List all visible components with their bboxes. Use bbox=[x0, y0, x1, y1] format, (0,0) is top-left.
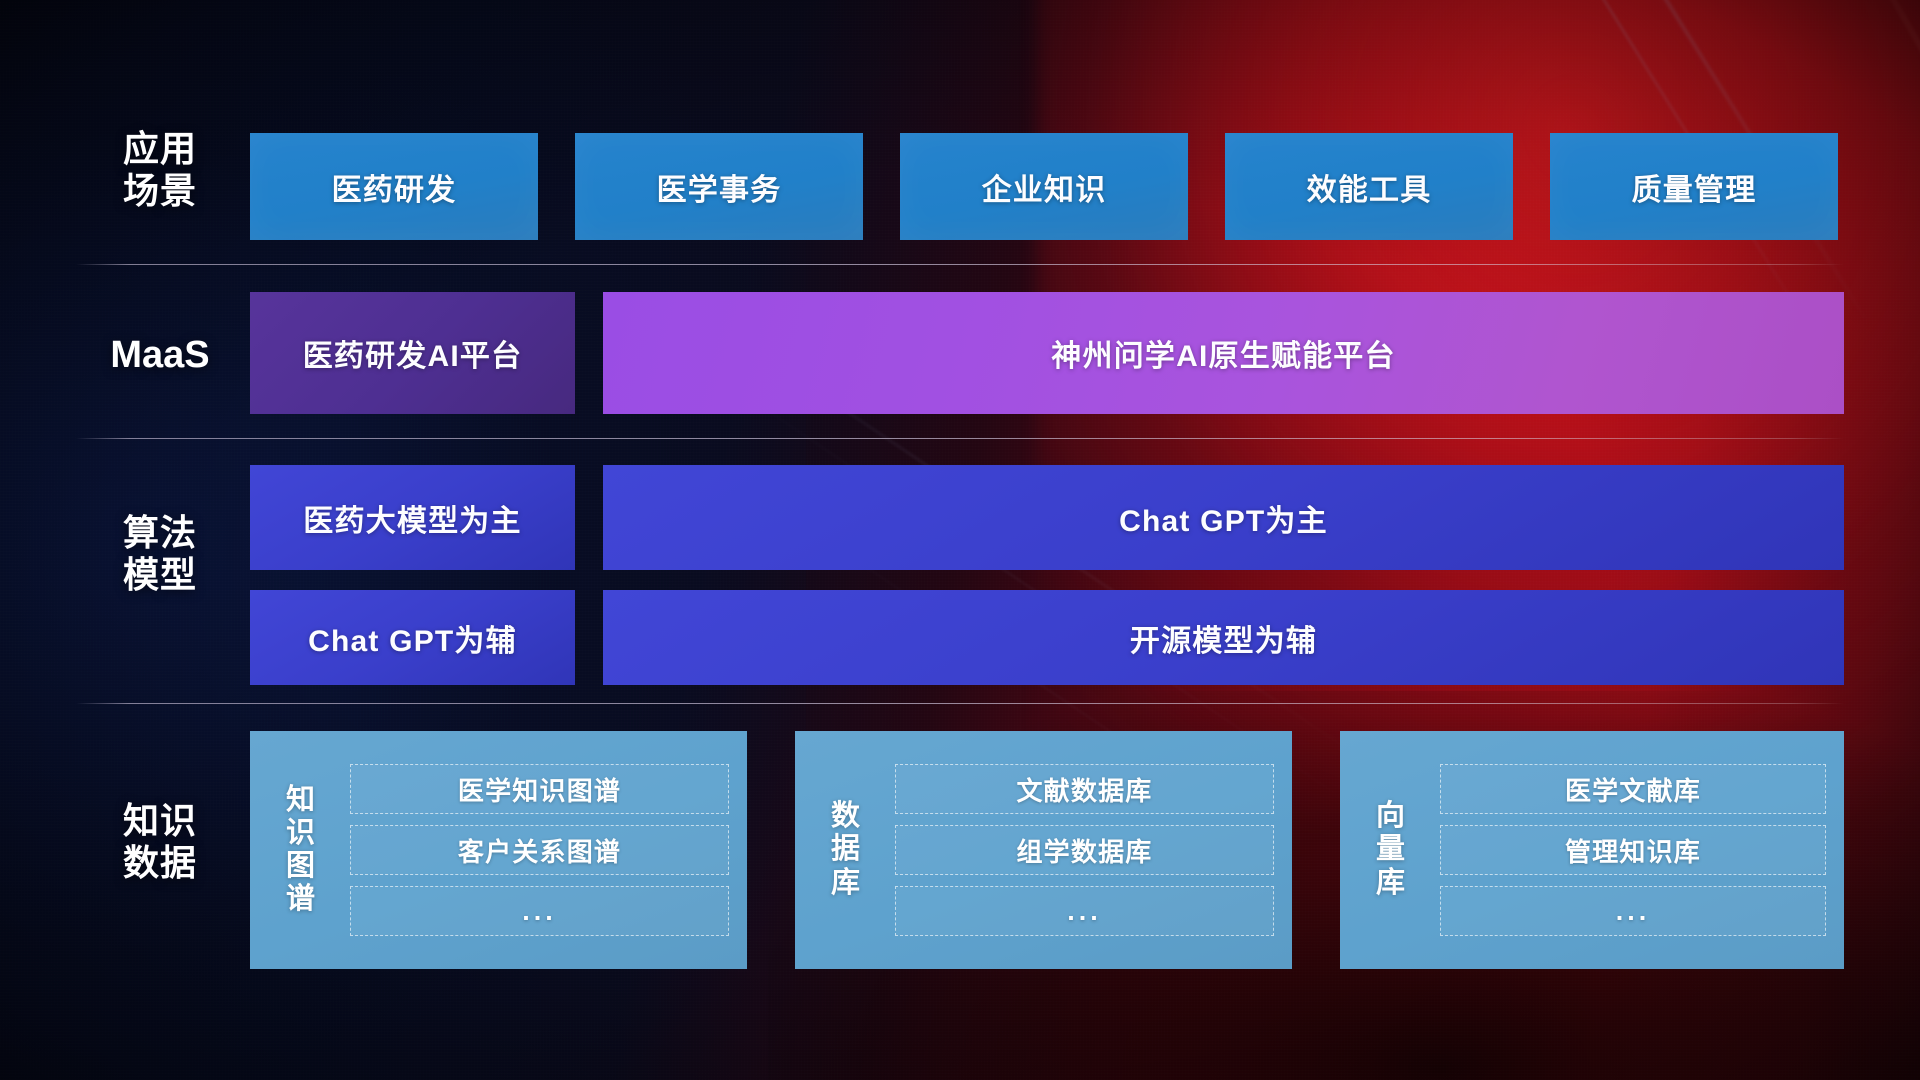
knowledge-item[interactable]: 医学知识图谱 bbox=[350, 764, 729, 814]
knowledge-item-more[interactable]: ... bbox=[1440, 886, 1826, 936]
row-label-maas: MaaS bbox=[76, 333, 244, 377]
row-label-knowledge-data: 知识 数据 bbox=[76, 800, 244, 884]
algorithm-card-secondary-right[interactable]: 开源模型为辅 bbox=[603, 590, 1844, 685]
knowledge-panel-graph-items: 医学知识图谱 客户关系图谱 ... bbox=[350, 764, 729, 936]
knowledge-item[interactable]: 管理知识库 bbox=[1440, 825, 1826, 875]
algorithm-card-primary-left[interactable]: 医药大模型为主 bbox=[250, 465, 575, 570]
algorithm-card-secondary-left[interactable]: Chat GPT为辅 bbox=[250, 590, 575, 685]
scenario-card-1[interactable]: 医药研发 bbox=[250, 133, 538, 240]
knowledge-item-more[interactable]: ... bbox=[895, 886, 1274, 936]
scenario-card-2[interactable]: 医学事务 bbox=[575, 133, 863, 240]
knowledge-panel-graph[interactable]: 知 识 图 谱 医学知识图谱 客户关系图谱 ... bbox=[250, 731, 747, 969]
knowledge-item[interactable]: 客户关系图谱 bbox=[350, 825, 729, 875]
knowledge-panel-vector[interactable]: 向 量 库 医学文献库 管理知识库 ... bbox=[1340, 731, 1844, 969]
row-divider-1 bbox=[76, 264, 1844, 265]
scenario-card-4[interactable]: 效能工具 bbox=[1225, 133, 1513, 240]
scenario-card-3[interactable]: 企业知识 bbox=[900, 133, 1188, 240]
knowledge-panel-database-title: 数 据 库 bbox=[809, 800, 883, 899]
slide-canvas: 应用 场景 医药研发 医学事务 企业知识 效能工具 质量管理 MaaS 医药研发… bbox=[0, 0, 1920, 1080]
knowledge-item-more[interactable]: ... bbox=[350, 886, 729, 936]
knowledge-item[interactable]: 组学数据库 bbox=[895, 825, 1274, 875]
knowledge-panel-vector-items: 医学文献库 管理知识库 ... bbox=[1440, 764, 1826, 936]
knowledge-item[interactable]: 文献数据库 bbox=[895, 764, 1274, 814]
knowledge-panel-database[interactable]: 数 据 库 文献数据库 组学数据库 ... bbox=[795, 731, 1292, 969]
knowledge-panel-database-items: 文献数据库 组学数据库 ... bbox=[895, 764, 1274, 936]
row-label-application-scenario: 应用 场景 bbox=[76, 128, 244, 212]
row-label-algorithm-model: 算法 模型 bbox=[76, 512, 244, 596]
maas-platform-card-medical[interactable]: 医药研发AI平台 bbox=[250, 292, 575, 414]
knowledge-panel-graph-title: 知 识 图 谱 bbox=[264, 784, 338, 916]
row-divider-3 bbox=[76, 703, 1844, 704]
knowledge-item[interactable]: 医学文献库 bbox=[1440, 764, 1826, 814]
algorithm-card-primary-right[interactable]: Chat GPT为主 bbox=[603, 465, 1844, 570]
knowledge-panel-vector-title: 向 量 库 bbox=[1354, 800, 1428, 899]
maas-platform-card-shenzhou[interactable]: 神州问学AI原生赋能平台 bbox=[603, 292, 1844, 414]
scenario-card-5[interactable]: 质量管理 bbox=[1550, 133, 1838, 240]
row-divider-2 bbox=[76, 438, 1844, 439]
